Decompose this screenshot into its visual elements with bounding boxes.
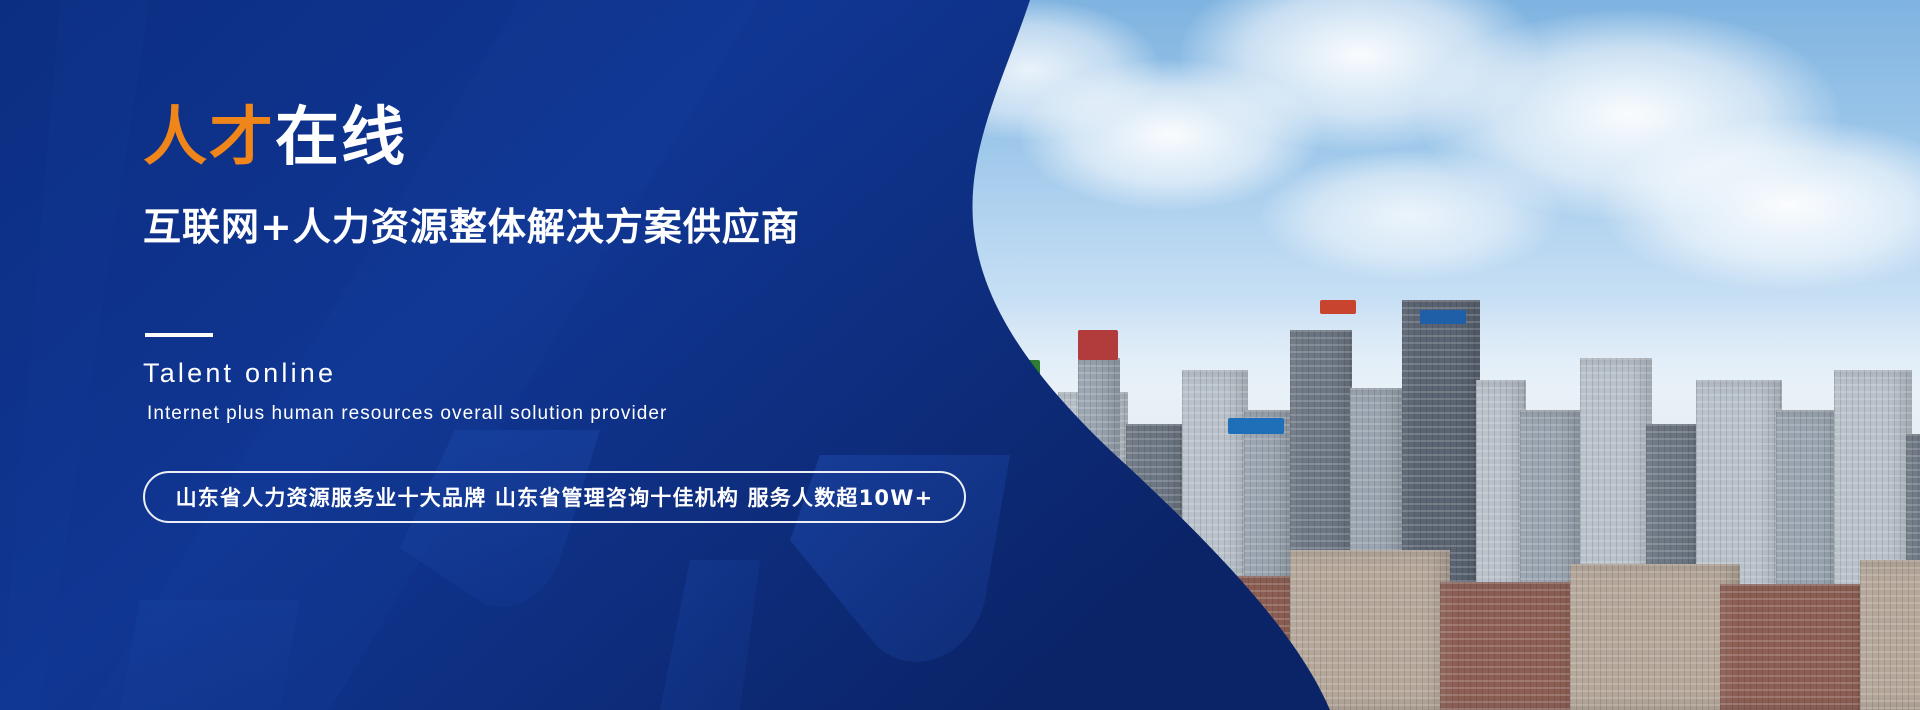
- english-subtitle: Internet plus human resources overall so…: [147, 403, 667, 425]
- building: [1170, 576, 1300, 710]
- page-subtitle: 互联网+人力资源整体解决方案供应商: [143, 196, 800, 251]
- page-title: 人才在线: [143, 106, 407, 170]
- building: [1440, 582, 1580, 710]
- title-accent-text: 人才: [143, 101, 275, 175]
- divider-rule: [145, 333, 213, 337]
- building: [1290, 550, 1450, 710]
- signage: [1320, 300, 1356, 314]
- building: [1860, 560, 1920, 710]
- building: [1570, 564, 1740, 710]
- title-plain-text: 在线: [275, 101, 407, 175]
- signage: [1420, 310, 1466, 324]
- credentials-badge: 山东省人力资源服务业十大品牌 山东省管理咨询十佳机构 服务人数超10W+: [143, 471, 966, 523]
- english-title: Talent online: [143, 358, 336, 389]
- signage: [1228, 418, 1284, 434]
- building: [1030, 560, 1180, 710]
- hero-banner: 人才在线 互联网+人力资源整体解决方案供应商 Talent online Int…: [0, 0, 1920, 710]
- building: [1720, 584, 1870, 710]
- credentials-badge-text: 山东省人力资源服务业十大品牌 山东省管理咨询十佳机构 服务人数超10W+: [176, 482, 934, 512]
- banner-content: 人才在线 互联网+人力资源整体解决方案供应商 Talent online Int…: [143, 0, 1043, 710]
- signage: [1078, 330, 1118, 360]
